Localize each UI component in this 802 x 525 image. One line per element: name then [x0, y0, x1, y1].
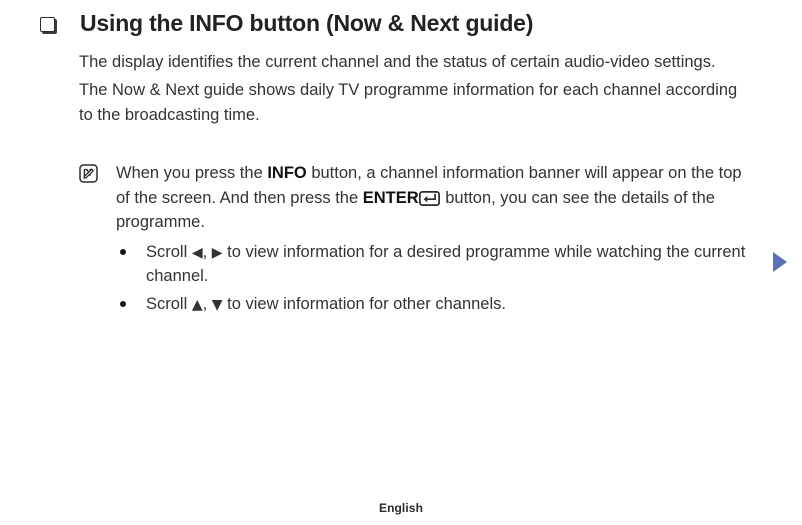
- section-heading: Using the INFO button (Now & Next guide): [40, 8, 533, 38]
- note-text: When you press the INFO button, a channe…: [116, 161, 759, 235]
- bullet-1-tail: to view information for a desired progra…: [146, 243, 745, 285]
- note-pen-icon: [79, 164, 98, 183]
- checkbox-square-icon: [40, 17, 55, 32]
- list-item: Scroll ▲, ▼ to view information for othe…: [120, 292, 760, 316]
- arrow-right-icon: ▶: [212, 245, 223, 261]
- next-page-triangle-icon[interactable]: [769, 250, 791, 274]
- dot-bullet-icon: [120, 301, 126, 307]
- footer-language-label: English: [0, 501, 802, 515]
- footer-divider: [0, 521, 802, 522]
- paragraph-2: The Now & Next guide shows daily TV prog…: [79, 78, 751, 129]
- note-lead: When you press the: [116, 164, 267, 182]
- arrow-down-icon: ▼: [212, 297, 223, 313]
- paragraph-1: The display identifies the current chann…: [79, 50, 751, 76]
- note-block: When you press the INFO button, a channe…: [79, 161, 759, 235]
- body-text-block: The display identifies the current chann…: [79, 50, 751, 129]
- arrow-up-icon: ▲: [192, 297, 203, 313]
- bullet-list: Scroll ◀, ▶ to view information for a de…: [120, 240, 760, 316]
- manual-page: Using the INFO button (Now & Next guide)…: [0, 0, 802, 525]
- bullet-2-separator: ,: [203, 295, 212, 313]
- bullet-2-lead: Scroll: [146, 295, 192, 313]
- bullet-2-tail: to view information for other channels.: [223, 295, 506, 313]
- list-item-text: Scroll ▲, ▼ to view information for othe…: [146, 292, 760, 316]
- note-enter-keyword: ENTER: [363, 189, 419, 207]
- bullet-1-separator: ,: [203, 243, 212, 261]
- note-info-keyword: INFO: [267, 164, 306, 182]
- dot-bullet-icon: [120, 249, 126, 255]
- list-item: Scroll ◀, ▶ to view information for a de…: [120, 240, 760, 288]
- arrow-left-icon: ◀: [192, 245, 203, 261]
- page-title: Using the INFO button (Now & Next guide): [80, 8, 533, 38]
- bullet-1-lead: Scroll: [146, 243, 192, 261]
- list-item-text: Scroll ◀, ▶ to view information for a de…: [146, 240, 760, 288]
- enter-return-key-icon: [419, 191, 440, 206]
